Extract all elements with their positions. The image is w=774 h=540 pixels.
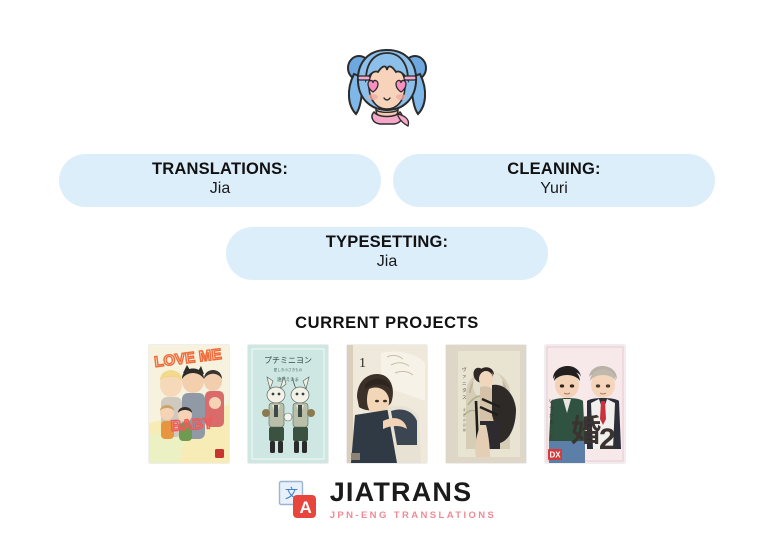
svg-text:手: 手 [463, 408, 466, 412]
scanlation-credits-page: TRANSLATIONS: Jia CLEANING: Yuri TYPESET… [0, 0, 774, 540]
credits-row-secondary: TYPESETTING: Jia [59, 227, 715, 280]
project-cover-volume-one[interactable]: 1 [347, 345, 427, 463]
project-cover-kon-2-dx[interactable]: 婚 2 いつか まこと DX [545, 345, 625, 463]
svg-text:記: 記 [463, 423, 466, 427]
mascot-chibi-girl-icon [342, 44, 432, 130]
project-cover-puchi-minyon[interactable]: プチミニヨン 愛しき小さきもの 遠藤えいま [248, 345, 328, 463]
svg-text:の: の [463, 418, 466, 422]
credit-role-label: TRANSLATIONS: [152, 160, 288, 178]
credit-pill-typesetting: TYPESETTING: Jia [226, 227, 548, 280]
project-cover-art-nouveau[interactable]: ヴァニ タス 手記の 記録 [446, 345, 526, 463]
cover-badge-dx: DX [550, 451, 562, 460]
cover-side-text-jp: ヴァニ タス [462, 366, 467, 400]
svg-text:と: と [549, 434, 554, 440]
cover-title-jp: プチミニヨン [264, 356, 312, 365]
svg-text:つ: つ [549, 406, 554, 412]
cover-volume-number: 1 [359, 356, 366, 371]
credits-row-primary: TRANSLATIONS: Jia CLEANING: Yuri [59, 154, 715, 207]
credit-pill-translations: TRANSLATIONS: Jia [59, 154, 381, 207]
cover-side-text-jp: いつか まこと [549, 399, 554, 440]
credit-person-name: Jia [377, 252, 397, 272]
svg-text:か: か [549, 412, 554, 419]
svg-text:タ: タ [462, 387, 467, 394]
cover-subtitle-jp: 愛しき小さきもの [274, 367, 303, 372]
cover-author-jp: 遠藤えいま [277, 376, 299, 383]
cover-title-number: 2 [599, 423, 616, 456]
site-logo[interactable]: 文 A JIATRANS JPN-ENG TRANSLATIONS [278, 479, 497, 521]
current-projects-heading: CURRENT PROJECTS [295, 314, 479, 333]
svg-text:ニ: ニ [462, 381, 467, 386]
svg-text:い: い [549, 399, 554, 405]
credit-person-name: Yuri [540, 179, 568, 199]
svg-text:ま: ま [549, 420, 554, 426]
svg-text:記: 記 [463, 413, 466, 417]
translate-icon-en-glyph: A [299, 498, 311, 517]
logo-text-block: JIATRANS JPN-ENG TRANSLATIONS [330, 479, 497, 521]
cover-title-kanji: 婚 [571, 415, 601, 448]
svg-text:こ: こ [549, 427, 554, 433]
brand-tagline: JPN-ENG TRANSLATIONS [330, 510, 497, 521]
cover-title-bottom: BABY [170, 415, 214, 435]
svg-text:ヴ: ヴ [462, 366, 467, 373]
project-cover-love-me-baby[interactable]: LOVE ME BABY [149, 345, 229, 463]
svg-text:ス: ス [462, 395, 467, 400]
brand-name: JIATRANS [330, 479, 497, 506]
credit-role-label: CLEANING: [507, 160, 600, 178]
credit-person-name: Jia [210, 179, 230, 199]
svg-text:録: 録 [463, 428, 466, 432]
translate-icon: 文 A [278, 480, 318, 520]
credit-pill-cleaning: CLEANING: Yuri [393, 154, 715, 207]
project-covers-row: LOVE ME BABY プチミニヨン 愛しき小さきもの 遠藤えいま [149, 345, 625, 463]
credit-role-label: TYPESETTING: [326, 233, 449, 251]
